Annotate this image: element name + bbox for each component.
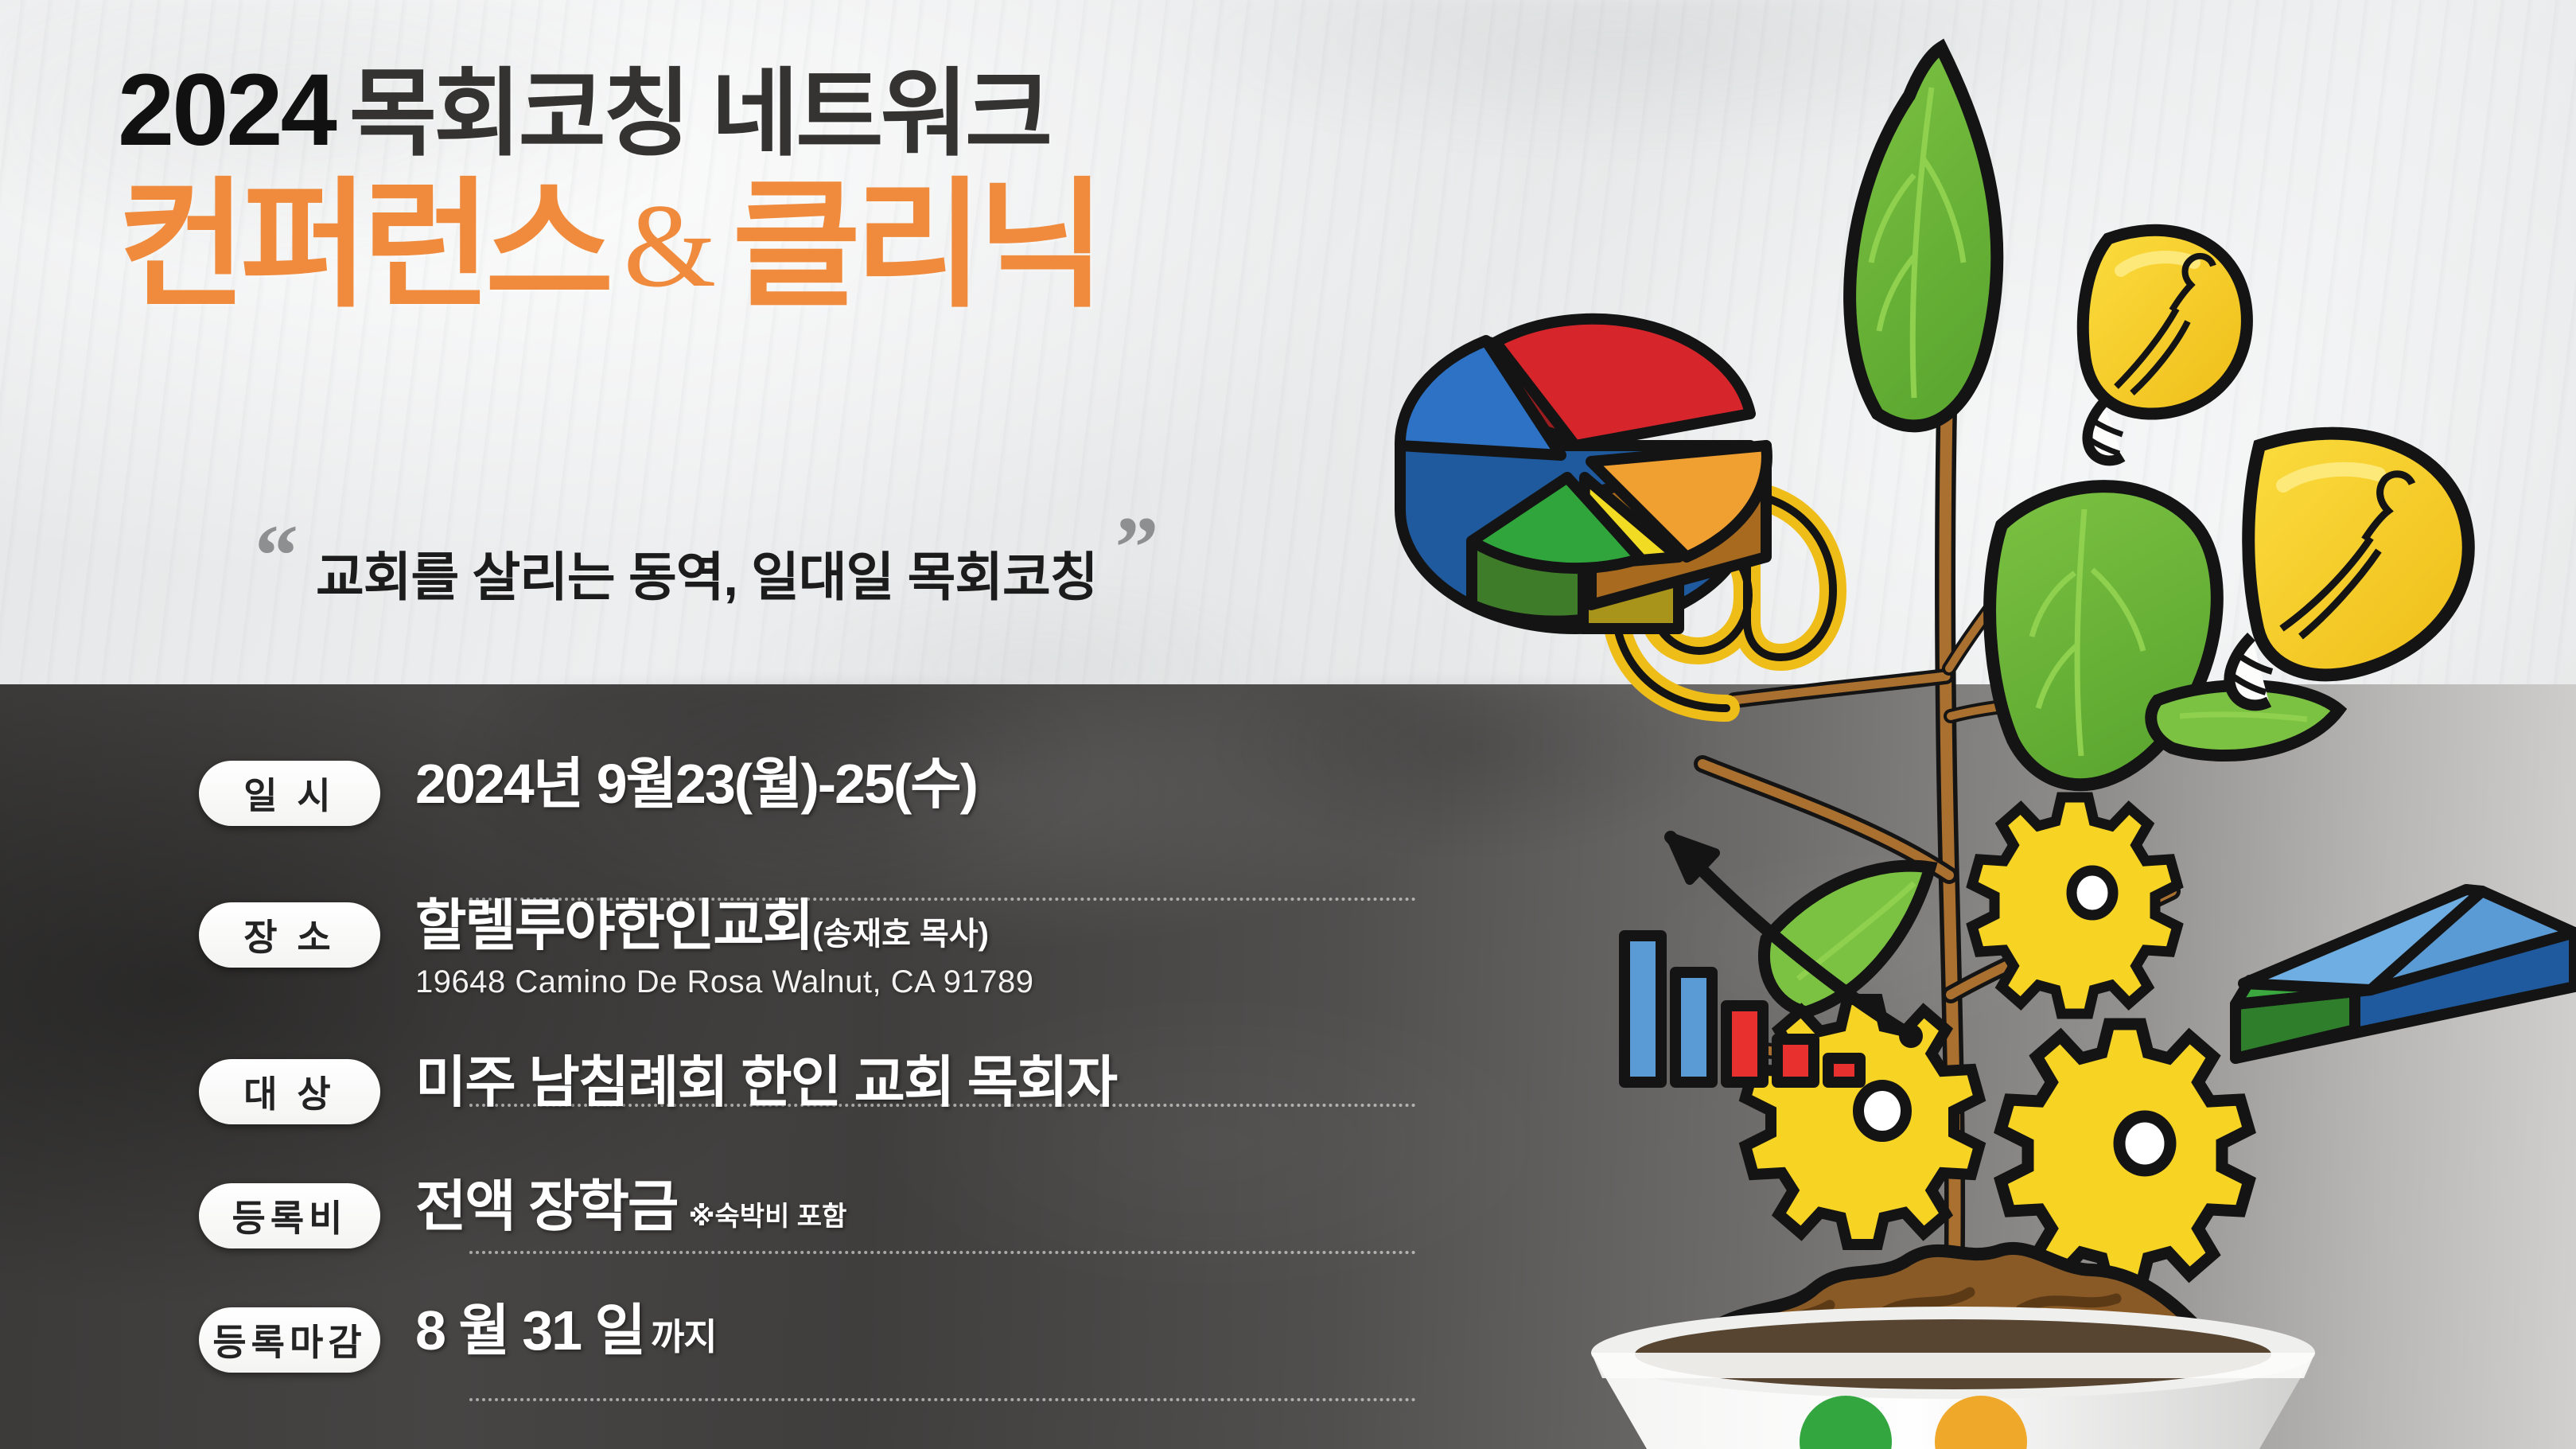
info-row-audience: 대 상 미주 남침례회 한인 교회 목회자 bbox=[0, 1051, 1472, 1124]
row-divider-3 bbox=[469, 1251, 1416, 1254]
badge-audience: 대 상 bbox=[199, 1059, 380, 1124]
headline-line-2: 컨퍼런스 & 클리닉 bbox=[118, 176, 1099, 316]
lightbulb-large-icon bbox=[2229, 434, 2468, 706]
badge-deadline: 등록마감 bbox=[199, 1307, 380, 1373]
headline-line-1: 2024 목회코칭 네트워크 bbox=[118, 62, 1099, 160]
info-row-audience-body: 미주 남침례회 한인 교회 목회자 bbox=[415, 1051, 1116, 1113]
info-row-date: 일 시 2024년 9월23(월)-25(수) bbox=[0, 753, 1472, 826]
illustration-plant-infographic bbox=[1352, 0, 2576, 1449]
badge-venue: 장 소 bbox=[199, 902, 380, 968]
lightbulb-small-icon bbox=[2083, 230, 2247, 461]
fee-note: ※숙박비 포함 bbox=[688, 1202, 846, 1232]
quote-open-icon: “ bbox=[255, 525, 298, 586]
headline-subtitle-kr: 목회코칭 네트워크 bbox=[349, 68, 1050, 160]
badge-date: 일 시 bbox=[199, 761, 380, 826]
info-value-fee: 전액 장학금※숙박비 포함 bbox=[415, 1175, 846, 1237]
info-row-fee: 등록비 전액 장학금※숙박비 포함 bbox=[0, 1175, 1472, 1248]
deadline-tail: 까지 bbox=[651, 1316, 717, 1357]
flower-pot bbox=[1591, 1307, 2315, 1449]
row-divider-4 bbox=[469, 1398, 1416, 1401]
info-row-deadline-body: 8 월 31 일까지 bbox=[415, 1299, 717, 1361]
headline-clinic-word: 클리닉 bbox=[732, 176, 1099, 316]
info-value-venue: 할렐루야한인교회(송재호 목사) bbox=[415, 894, 1033, 956]
info-row-venue-body: 할렐루야한인교회(송재호 목사) 19648 Camino De Rosa Wa… bbox=[415, 894, 1033, 1000]
pie-chart-3d bbox=[1400, 319, 1767, 629]
quote-close-icon: ” bbox=[1115, 517, 1158, 578]
info-row-fee-body: 전액 장학금※숙박비 포함 bbox=[415, 1175, 846, 1237]
info-value-address: 19648 Camino De Rosa Walnut, CA 91789 bbox=[415, 964, 1033, 1000]
tagline-text: 교회를 살리는 동역, 일대일 목회코칭 bbox=[316, 544, 1097, 610]
deadline-date: 8 월 31 일 bbox=[415, 1299, 644, 1361]
headline-conference-word: 컨퍼런스 bbox=[118, 176, 608, 316]
info-value-deadline: 8 월 31 일까지 bbox=[415, 1299, 717, 1361]
info-value-date: 2024년 9월23(월)-25(수) bbox=[415, 753, 977, 815]
tagline-block: “ 교회를 살리는 동역, 일대일 목회코칭 ” bbox=[255, 525, 1158, 610]
info-row-date-body: 2024년 9월23(월)-25(수) bbox=[415, 753, 977, 815]
venue-pastor: (송재호 목사) bbox=[812, 917, 989, 952]
poster-root: 2024 목회코칭 네트워크 컨퍼런스 & 클리닉 “ 교회를 살리는 동역, … bbox=[0, 0, 2576, 1449]
fee-amount: 전액 장학금 bbox=[415, 1175, 677, 1237]
info-row-deadline: 등록마감 8 월 31 일까지 bbox=[0, 1299, 1472, 1373]
headline-year: 2024 bbox=[118, 62, 335, 160]
leaf-large bbox=[1850, 48, 1997, 426]
headline-block: 2024 목회코칭 네트워크 컨퍼런스 & 클리닉 bbox=[118, 62, 1099, 316]
ampersand-glyph: & bbox=[621, 186, 720, 306]
venue-name: 할렐루야한인교회 bbox=[415, 894, 812, 956]
gear-small-icon bbox=[1972, 797, 2177, 1014]
info-list: 일 시 2024년 9월23(월)-25(수) 장 소 할렐루야한인교회(송재호… bbox=[0, 684, 1472, 1373]
badge-fee: 등록비 bbox=[199, 1183, 380, 1248]
info-value-audience: 미주 남침례회 한인 교회 목회자 bbox=[415, 1051, 1116, 1113]
info-row-venue: 장 소 할렐루야한인교회(송재호 목사) 19648 Camino De Ros… bbox=[0, 894, 1472, 1000]
pie-wedge-blue-green bbox=[2236, 890, 2574, 1058]
